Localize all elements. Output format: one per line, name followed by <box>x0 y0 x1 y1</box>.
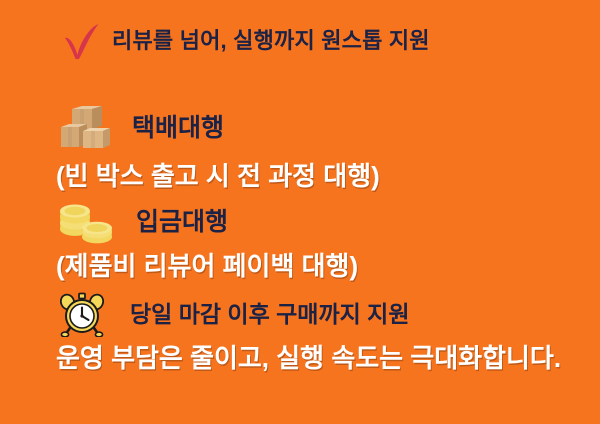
red-check-icon <box>62 22 102 60</box>
stacked-coins-icon <box>58 199 114 245</box>
headline-text: 리뷰를 넘어, 실행까지 원스톱 지원 <box>112 30 430 52</box>
service-item-sameday: 당일 마감 이후 구매까지 지원 <box>60 291 409 337</box>
packages-boxes-icon <box>58 105 110 151</box>
promo-poster: 리뷰를 넘어, 실행까지 원스톱 지원 택배대행 <box>0 0 600 424</box>
service-item-deposit: 입금대행 <box>58 199 228 245</box>
service-detail-deposit: (제품비 리뷰어 페이백 대행) <box>56 253 358 279</box>
alarm-clock-icon <box>60 291 104 337</box>
service-item-parcel: 택배대행 <box>58 105 224 151</box>
service-label-sameday: 당일 마감 이후 구매까지 지원 <box>130 303 409 326</box>
service-label-parcel: 택배대행 <box>132 116 224 141</box>
service-label-deposit: 입금대행 <box>136 210 228 235</box>
service-detail-parcel: (빈 박스 출고 시 전 과정 대행) <box>56 163 380 189</box>
headline-row: 리뷰를 넘어, 실행까지 원스톱 지원 <box>62 22 430 60</box>
closing-statement: 운영 부담은 줄이고, 실행 속도는 극대화합니다. <box>56 345 561 371</box>
